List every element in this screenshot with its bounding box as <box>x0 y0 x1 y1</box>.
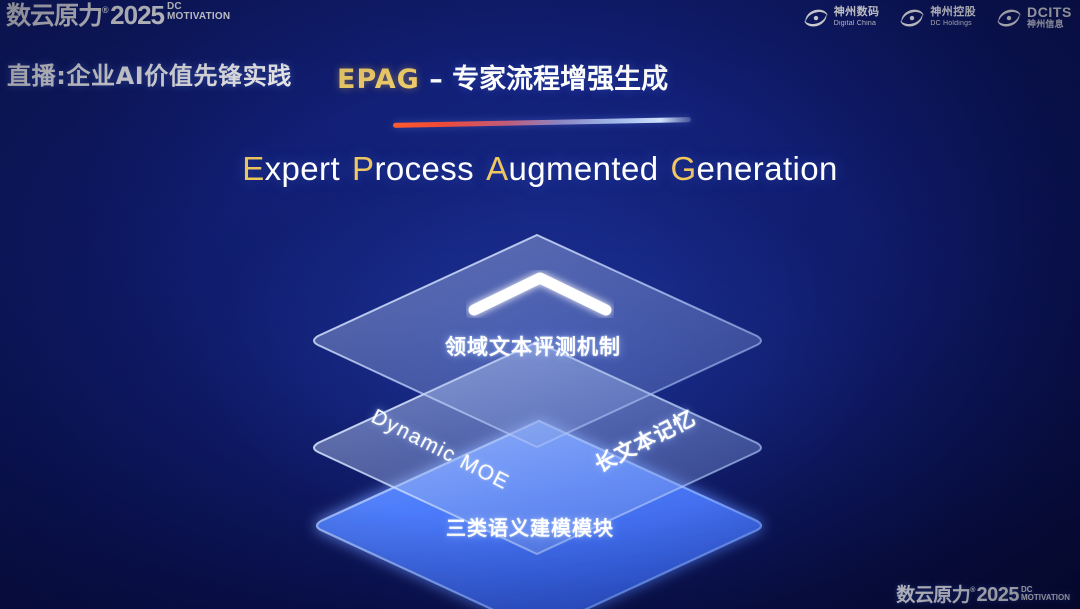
swirl-logo-icon <box>899 7 925 28</box>
partner-logo-text: DCITS 神州信息 <box>1027 5 1072 29</box>
title-acronym: EPAG <box>337 64 420 95</box>
swirl-logo-icon <box>996 7 1022 28</box>
brand-dc-motivation: DC MOTIVATION <box>167 2 230 21</box>
brand-logo: 数云原力 ® 2025 DC MOTIVATION <box>6 2 230 29</box>
page-title: EPAG – 专家流程增强生成 <box>337 57 668 96</box>
layer-top-domain-eval[interactable] <box>310 231 765 451</box>
partner-name-cn: 神州数码 <box>834 7 880 18</box>
partner-logo-text: 神州控股 DC Holdings <box>930 7 976 27</box>
partner-name-en: Digital China <box>834 20 880 27</box>
partner-name-cn: 神州控股 <box>930 7 976 18</box>
brand-year: 2025 <box>110 2 164 29</box>
watermark-dc-motivation: DC MOTIVATION <box>1021 586 1070 601</box>
title-chinese: 专家流程增强生成 <box>452 64 668 95</box>
brand-registered-mark: ® <box>102 4 109 16</box>
watermark-name-cn: 数云原力 <box>896 585 970 605</box>
title-dash: – <box>429 64 443 95</box>
partner-name-en: 神州信息 <box>1027 20 1072 29</box>
livestream-label: 直播:企业AI价值先锋实践 <box>7 56 292 91</box>
partner-name-cn: DCITS <box>1027 5 1072 19</box>
partner-logo-dc-holdings: 神州控股 DC Holdings <box>899 7 976 28</box>
diamond-shape-top <box>310 231 765 451</box>
footer-watermark: 数云原力 ® 2025 DC MOTIVATION <box>896 585 1070 605</box>
slide-canvas: 数云原力 ® 2025 DC MOTIVATION 直播:企业AI价值先锋实践 … <box>0 0 1080 609</box>
brand-motivation: MOTIVATION <box>167 12 230 22</box>
partner-logo-row: 神州数码 Digital China 神州控股 DC Holdings <box>803 5 1072 29</box>
partner-logo-text: 神州数码 Digital China <box>834 7 880 27</box>
subtitle-word-generation: Generation <box>670 150 837 187</box>
watermark-year: 2025 <box>976 585 1019 605</box>
subtitle-word-expert: Expert <box>242 150 340 187</box>
brand-name-cn: 数云原力 <box>6 2 102 29</box>
swirl-logo-icon <box>803 7 829 28</box>
watermark-registered-mark: ® <box>970 586 975 595</box>
subtitle-expansion: ExpertProcessAugmentedGeneration <box>0 150 1080 188</box>
partner-logo-digital-china: 神州数码 Digital China <box>803 7 880 28</box>
partner-name-en: DC Holdings <box>930 20 976 27</box>
subtitle-word-process: Process <box>352 150 474 187</box>
gradient-divider <box>393 117 691 128</box>
watermark-motivation: MOTIVATION <box>1021 594 1070 602</box>
subtitle-word-augmented: Augmented <box>486 150 658 187</box>
partner-logo-dcits: DCITS 神州信息 <box>996 5 1072 29</box>
